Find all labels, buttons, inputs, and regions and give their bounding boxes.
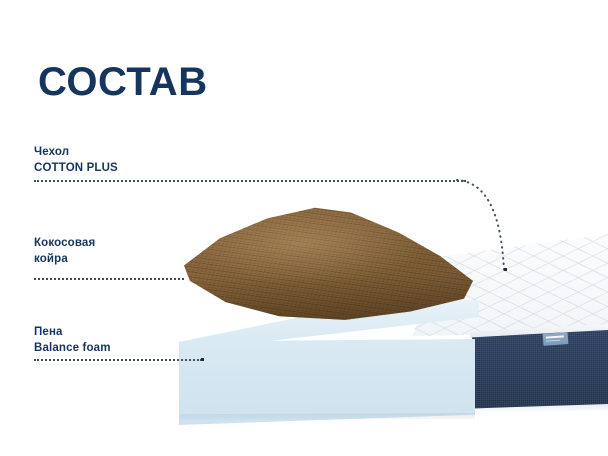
navy-side-panel	[472, 330, 608, 412]
leader-line-cover	[34, 180, 466, 184]
callout-foam-title: Пена	[34, 325, 111, 341]
mattress-illustration	[0, 0, 608, 456]
callout-foam-subtitle: Balance foam	[34, 341, 111, 357]
brand-badge	[543, 332, 569, 346]
leader-endpoint-cover	[504, 268, 507, 271]
callout-coir-subtitle: койра	[34, 252, 95, 268]
callout-coir: Кокосовая койра	[34, 236, 95, 267]
balance-foam-front-face	[179, 339, 475, 425]
callout-foam: Пена Balance foam	[34, 325, 111, 356]
leader-line-foam	[34, 359, 202, 363]
leader-endpoint-foam	[201, 358, 204, 361]
coconut-coir-highlight	[178, 203, 476, 321]
callout-cover-subtitle: COTTON PLUS	[34, 161, 118, 177]
callout-cover-title: Чехол	[34, 145, 118, 161]
brand-badge-line-2	[546, 340, 560, 342]
callout-coir-title: Кокосовая	[34, 236, 95, 252]
composition-infographic: СОСТАВ Чехол COTTON PLUS Кокосовая койра…	[0, 0, 608, 456]
brand-badge-line-1	[546, 335, 564, 338]
callout-cover: Чехол COTTON PLUS	[34, 145, 118, 176]
leader-line-coir	[34, 278, 184, 282]
